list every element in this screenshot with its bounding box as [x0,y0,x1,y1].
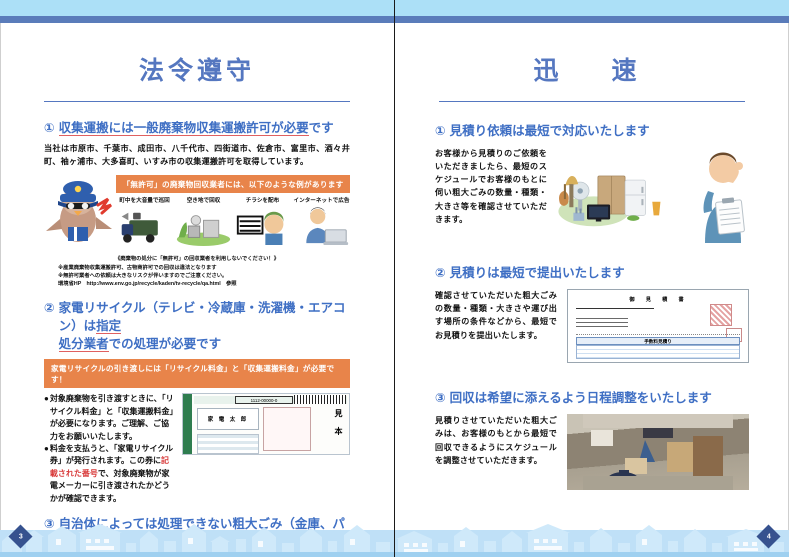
section2-heading-l2-ul: 処分業者 [59,337,109,352]
cluttered-garage-photo [567,414,749,490]
garage-contents [567,414,749,490]
right-page-title: 迅 速 [395,51,789,87]
vacant-lot-collection-icon [175,204,232,248]
page-spine [394,0,395,557]
r-section1-heading-text: 見積り依頼は最短で対応いたします [450,122,749,140]
icon-label-1: 空き地で回収 [175,196,232,204]
section2-heading-l1-ul: 指定 [96,319,121,334]
right-page: 迅 速 ① 見積り依頼は最短で対応いたします お客様から見積りのご依頼をいただき… [395,23,789,557]
r-section3-body: 見積りさせていただいた粗大ごみは、お客様のもとから最短で回収できるようにスケジュ… [435,414,557,490]
left-title-rule [44,101,350,102]
section1-heading: ① 収集運搬には一般廃棄物収集運搬許可が必要です [44,119,350,137]
section2-number: ② [44,299,59,353]
icon-label-2: チラシを配布 [234,196,291,204]
ticket-barcode [294,395,346,404]
mascot-wrap [44,175,116,254]
section1-number: ① [44,119,59,137]
kaden-recycle-ticket-image: 1112-00000-0 家 電 太 郎 見 本 [182,393,350,455]
section2-bullet-2-a: 料金を支払うと、「家電リサイクル券」が発行されます。この券に [50,444,173,465]
section2-bullet-2: ● 料金を支払うと、「家電リサイクル券」が発行されます。この券に記載された番号で… [44,443,176,505]
r-section2-number: ② [435,264,450,282]
r-section1-body: お客様から見積りのご依頼をいただきましたら、最短のスケジュールでお客様のもとに伺… [435,147,547,248]
ticket-sample-char-2: 本 [332,426,345,437]
r-section1-heading: ① 見積り依頼は最短で対応いたします [435,122,749,140]
left-section-1: ① 収集運搬には一般廃棄物収集運搬許可が必要です 当社は市原市、千葉市、成田市、… [44,119,350,289]
staff-with-clipboard-illustration [695,147,749,243]
warning-line: 《廃棄物の処分に「無許可」の回収業者を利用しないでください！》 [44,256,350,264]
ticket-name-field: 家 電 太 郎 [197,408,259,430]
police-bird-mascot-icon [44,175,116,249]
r-section2-heading-text: 見積りは最短で提出いたします [450,264,749,282]
section1-heading-tail: です [309,121,334,135]
r-section2-body: 確認させていただいた粗大ごみの数量・種類・大きさや運び出す場所の条件などから、最… [435,289,557,363]
recycle-fee-banner: 家電リサイクルの引き渡しには「リサイクル料金」と「収集運搬料金」が必要です！ [44,359,350,388]
section2-heading: ② 家電リサイクル（テレビ・冷蔵庫・洗濯機・エアコン）は指定 処分業者での処理が… [44,299,350,353]
estimate-sheet-image: 御 見 積 書 手数料見積り [567,289,749,363]
estimate-table-header: 手数料見積り [576,337,740,345]
note-line-3: 環境省HP http://www.env.go.jp/recycle/kaden… [44,281,350,289]
flyer-distribution-icon [234,204,291,248]
right-section-1: ① 見積り依頼は最短で対応いたします お客様から見積りのご依頼をいただきましたら… [435,122,749,248]
r-section3-heading-text: 回収は希望に添えるよう日程調整をいたします [450,389,749,407]
section1-heading-underlined: 収集運搬には一般廃棄物収集運搬許可が必要 [59,121,309,136]
left-section-2: ② 家電リサイクル（テレビ・冷蔵庫・洗濯機・エアコン）は指定 処分業者での処理が… [44,299,350,505]
r-section3-heading: ③ 回収は希望に添えるよう日程調整をいたします [435,389,749,407]
ticket-barcode-number: 1112-00000-0 [235,396,293,404]
icon-label-0: 町中を大音量で巡回 [116,196,173,204]
no-license-banner: 「無許可」の廃棄物回収業者には、以下のような例があります [116,175,350,193]
note-line-2: ※無許可業者への依頼は大きなリスクが伴いますのでご注意ください。 [44,273,350,281]
section1-body: 当社は市原市、千葉市、成田市、八千代市、四街道市、佐倉市、富里市、酒々井町、袖ヶ… [44,142,350,168]
left-page: 法令遵守 ① 収集運搬には一般廃棄物収集運搬許可が必要です 当社は市原市、千葉市… [0,23,394,557]
bulky-waste-items-illustration [553,147,689,243]
section2-bullet-1: ● 対象廃棄物を引き渡すときに、「リサイクル料金」と「収集運搬料金」が必要になり… [44,393,176,443]
left-page-title: 法令遵守 [0,51,394,87]
r-section2-heading: ② 見積りは最短で提出いたします [435,264,749,282]
icon-label-3: インターネットで広告 [293,196,350,204]
right-section-3: ③ 回収は希望に添えるよう日程調整をいたします 見積りさせていただいた粗大ごみは… [435,389,749,490]
r-section1-number: ① [435,122,450,140]
company-seal [710,304,732,326]
right-title-rule [439,101,745,102]
right-section-2: ② 見積りは最短で提出いたします 確認させていただいた粗大ごみの数量・種類・大き… [435,264,749,363]
section2-heading-l2: での処理が必要です [109,337,222,351]
brochure-spread: 法令遵守 ① 収集運搬には一般廃棄物収集運搬許可が必要です 当社は市原市、千葉市… [0,0,789,557]
ticket-sample-char-1: 見 [332,408,345,419]
estimate-doc-title: 御 見 積 書 [568,296,748,303]
section2-bullet-1-text: 対象廃棄物を引き渡すときに、「リサイクル料金」と「収集運搬料金」が必要になります… [50,393,176,443]
r-section3-number: ③ [435,389,450,407]
internet-ad-icon [293,204,350,248]
truck-loudspeaker-icon [116,204,173,248]
